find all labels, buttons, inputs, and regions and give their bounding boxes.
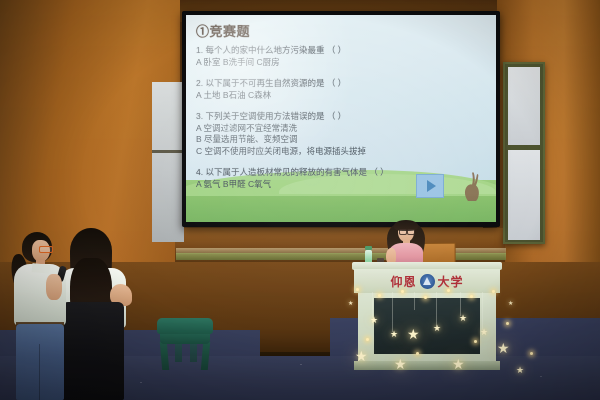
podium-name-left: 仰恩 <box>390 273 416 290</box>
question-text: 4. 以下属于人造板材常见的释放的有害气体是 （ ） <box>196 167 496 179</box>
jeans-seam <box>39 344 40 400</box>
stool-leg <box>201 342 210 370</box>
slide-content: ①竞赛题 1. 每个人的家中什么地方污染最重 （ ） A 卧室 B洗手间 C厨房… <box>186 15 496 222</box>
university-emblem-icon <box>420 274 435 289</box>
podium-front-panel <box>374 298 480 354</box>
podium-base <box>354 361 500 370</box>
question-option-b: B 尽量选用节能、变频空调 <box>196 134 496 146</box>
wall-panel-divider <box>152 150 184 153</box>
bottle-cap <box>365 246 372 250</box>
shirt-collar <box>32 263 51 274</box>
light-bulb <box>506 322 509 325</box>
student-arm <box>46 274 62 300</box>
lecture-hall-photo: ①竞赛题 1. 每个人的家中什么地方污染最重 （ ） A 卧室 B洗手间 C厨房… <box>0 0 600 400</box>
star-light-icon: ★ <box>433 324 441 333</box>
presenter-eyeglasses <box>407 229 415 235</box>
projection-screen-frame: ①竞赛题 1. 每个人的家中什么地方污染最重 （ ） A 卧室 B洗手间 C厨房… <box>182 11 500 227</box>
star-light-icon: ★ <box>390 330 398 339</box>
presenter <box>385 217 427 265</box>
star-light-icon: ★ <box>407 330 420 339</box>
emblem-glyph <box>423 277 431 285</box>
stool-leg <box>160 342 169 370</box>
light-bulb <box>470 295 473 298</box>
light-bulb <box>401 290 404 293</box>
question-options: A 卧室 B洗手间 C厨房 <box>196 57 496 69</box>
question-option-c: C 空调不使用时应关闭电源，将电源插头拔掉 <box>196 146 496 158</box>
question-options: A 土地 B石油 C森林 <box>196 90 496 102</box>
question-3: 3. 下列关于空调使用方法错误的是 （ ） A 空调过滤网不宜经常清洗 B 尽量… <box>196 111 496 157</box>
board-pane <box>508 67 540 145</box>
star-light-icon: ★ <box>452 360 465 369</box>
question-1: 1. 每个人的家中什么地方污染最重 （ ） A 卧室 B洗手间 C厨房 <box>196 45 496 68</box>
question-2: 2. 以下属于不可再生自然资源的是 （ ） A 土地 B石油 C森林 <box>196 78 496 101</box>
projection-screen: ①竞赛题 1. 每个人的家中什么地方污染最重 （ ） A 卧室 B洗手间 C厨房… <box>186 15 496 222</box>
light-bulb <box>356 288 359 291</box>
star-light-icon: ★ <box>459 314 467 323</box>
star-light-icon: ★ <box>348 300 353 309</box>
question-text: 2. 以下属于不可再生自然资源的是 （ ） <box>196 78 496 90</box>
light-wire <box>392 292 393 332</box>
light-bulb <box>416 352 419 355</box>
question-text: 3. 下列关于空调使用方法错误的是 （ ） <box>196 111 496 123</box>
question-options: A 氨气 B甲醛 C氧气 <box>196 179 496 191</box>
light-bulb <box>424 296 427 299</box>
star-light-icon: ★ <box>480 328 488 337</box>
light-bulb <box>474 340 477 343</box>
question-option-a: A 空调过滤网不宜经常清洗 <box>196 123 496 135</box>
light-bulb <box>366 338 369 341</box>
star-light-icon: ★ <box>497 344 510 353</box>
star-light-icon: ★ <box>516 366 524 375</box>
light-bulb <box>378 294 381 297</box>
student-with-microphone <box>6 232 72 400</box>
star-light-icon: ★ <box>370 316 378 325</box>
stool-seat <box>157 318 213 334</box>
light-bulb <box>447 289 450 292</box>
blue-jeans <box>16 324 64 400</box>
podium-nameplate: 仰恩大学 仰恩 大学 <box>354 269 500 293</box>
slide-title: ①竞赛题 <box>196 21 496 40</box>
presenter-eyeglasses <box>399 229 407 235</box>
light-wire <box>414 292 415 310</box>
green-framed-whiteboard <box>503 62 545 244</box>
star-light-icon: ★ <box>355 352 368 361</box>
board-ledge-green <box>176 253 506 260</box>
wall-panel-left <box>152 82 184 242</box>
board-pane <box>508 150 540 240</box>
podium-name-right: 大学 <box>438 273 464 290</box>
question-4: 4. 以下属于人造板材常见的释放的有害气体是 （ ） A 氨气 B甲醛 C氧气 <box>196 167 496 190</box>
light-bulb <box>492 290 495 293</box>
light-wire <box>436 292 437 326</box>
star-light-icon: ★ <box>394 360 407 369</box>
orange-eyeglasses-icon <box>39 246 53 253</box>
light-bulb <box>530 352 533 355</box>
light-wire <box>482 292 483 330</box>
green-plastic-stool[interactable] <box>157 318 213 370</box>
question-text: 1. 每个人的家中什么地方污染最重 （ ） <box>196 45 496 57</box>
star-light-icon: ★ <box>508 300 513 309</box>
